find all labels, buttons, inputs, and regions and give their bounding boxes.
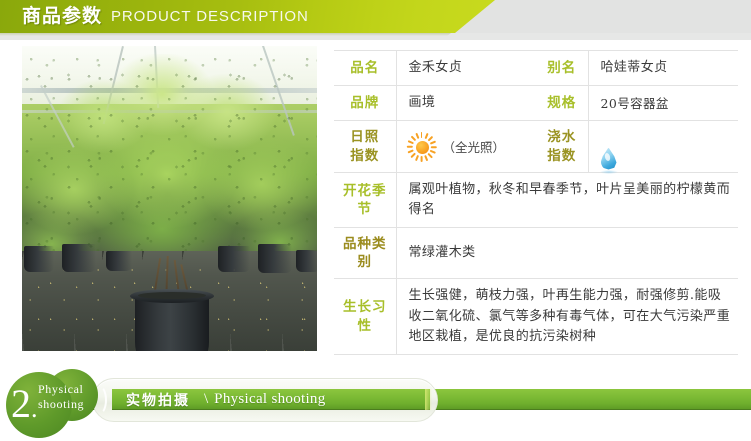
badge-label: Physical shooting [38, 382, 84, 411]
background-pot [106, 251, 132, 271]
product-photo [22, 46, 317, 351]
row-label-alias: 别名 [536, 51, 588, 86]
table-row: 品种类别 常绿灌木类 [334, 228, 738, 279]
table-row: 生长习性 生长强健，萌枝力强，叶再生能力强，耐强修剪.能吸收二氧化硫、氯气等多种… [334, 279, 738, 354]
background-pot [218, 246, 250, 272]
row-value-variety-category: 常绿灌木类 [396, 228, 738, 279]
row-value-spec: 20号容器盆 [588, 86, 738, 121]
row-value-sunlight-note: （全光照） [443, 137, 506, 156]
header-background-strip-right [455, 0, 751, 33]
row-value-alias: 哈娃蒂女贞 [588, 51, 738, 86]
pot-soil [138, 292, 206, 299]
row-label-watering-line1: 浇水 [547, 129, 576, 145]
table-row: 日照 指数 [334, 121, 738, 172]
row-label-variety-category: 品种类别 [334, 228, 396, 279]
shrub-foliage-texture [22, 52, 317, 272]
row-label-spec: 规格 [536, 86, 588, 121]
water-drop-shadow [600, 170, 618, 174]
header-banner-shadow [0, 33, 451, 36]
row-label-growth-habit: 生长习性 [334, 279, 396, 354]
row-value-watering-index [588, 121, 738, 172]
row-value-sunlight-index: （全光照） [396, 121, 536, 172]
section-number-badge: 2. Physical shooting [2, 368, 112, 441]
footer-title-cn: 实物拍摄 [126, 390, 190, 410]
background-pot [296, 250, 317, 272]
table-row: 品牌 画境 规格 20号容器盆 [334, 86, 738, 121]
row-value-growth-habit: 生长强健，萌枝力强，叶再生能力强，耐强修剪.能吸收二氧化硫、氯气等多种有毒气体，… [396, 279, 738, 354]
row-value-product-name: 金禾女贞 [396, 51, 536, 86]
page-title-en: PRODUCT DESCRIPTION [111, 9, 309, 25]
badge-number: 2. [11, 384, 38, 424]
background-pot [258, 244, 292, 273]
header-title-group: 商品参数 PRODUCT DESCRIPTION [0, 0, 495, 33]
table-row: 开花季节 属观叶植物，秋冬和早春季节，叶片呈美丽的柠檬黄而得名 [334, 172, 738, 227]
badge-label-line2: shooting [38, 397, 84, 411]
sun-core [416, 141, 429, 154]
background-pot [62, 244, 96, 272]
section-footer: 实物拍摄 \ Physical shooting 2. Physical sho… [0, 368, 751, 441]
badge-number-dot: . [31, 394, 38, 423]
sun-icon [407, 132, 437, 162]
background-pot [24, 246, 54, 272]
specification-table: 品名 金禾女贞 别名 哈娃蒂女贞 品牌 画境 规格 20号容器盆 日照 指数 [334, 50, 738, 355]
row-value-flowering-season: 属观叶植物，秋冬和早春季节，叶片呈美丽的柠檬黄而得名 [396, 172, 738, 227]
badge-number-value: 2 [11, 381, 31, 426]
row-label-sunlight-index: 日照 指数 [334, 121, 396, 172]
badge-label-line1: Physical [38, 382, 83, 396]
row-label-watering-line2: 指数 [547, 148, 576, 164]
row-label-product-name: 品名 [334, 51, 396, 86]
page-title-cn: 商品参数 [22, 7, 102, 27]
footer-title-separator: \ [204, 391, 208, 408]
table-row: 品名 金禾女贞 别名 哈娃蒂女贞 [334, 51, 738, 86]
row-label-sunlight-line1: 日照 [350, 129, 379, 145]
row-label-flowering-season: 开花季节 [334, 172, 396, 227]
badge-swoosh-icon [91, 385, 107, 415]
row-label-sunlight-line2: 指数 [350, 148, 379, 164]
row-label-brand: 品牌 [334, 86, 396, 121]
footer-title-en: Physical shooting [214, 391, 325, 408]
page-header: 商品参数 PRODUCT DESCRIPTION [0, 0, 751, 40]
footer-section-title: 实物拍摄 \ Physical shooting [126, 389, 326, 410]
row-value-brand: 画境 [396, 86, 536, 121]
row-label-watering-index: 浇水 指数 [536, 121, 588, 172]
